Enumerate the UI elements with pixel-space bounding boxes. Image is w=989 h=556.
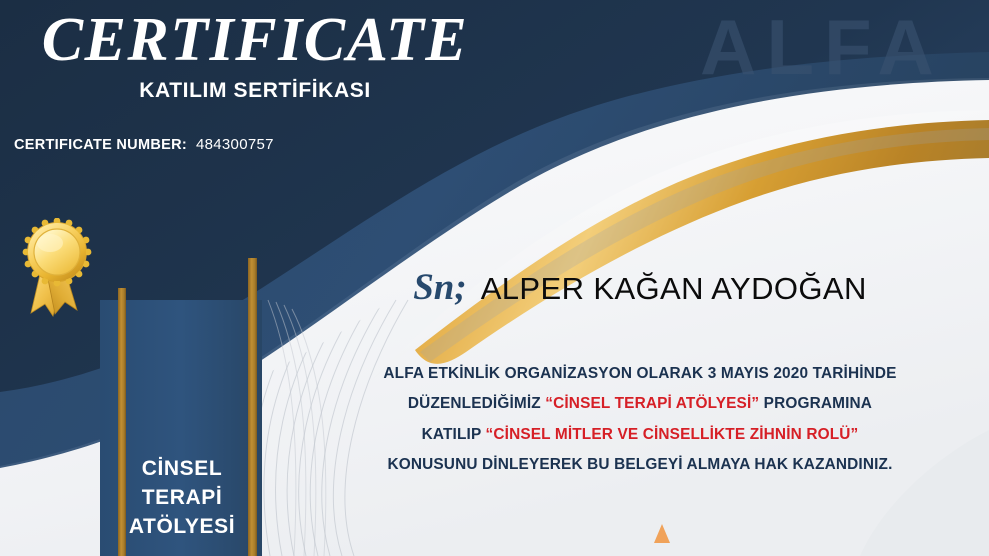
award-ribbon-icon <box>19 218 95 322</box>
body-line-3: KATILIP “CİNSEL MİTLER VE CİNSELLİKTE Zİ… <box>300 427 980 442</box>
body-line-4-text: KONUSUNU DİNLEYEREK BU BELGEYİ ALMAYA HA… <box>387 456 892 473</box>
certificate-number-value: 484300757 <box>196 136 274 153</box>
recipient-row: Sn; ALPER KAĞAN AYDOĞAN <box>300 266 980 309</box>
page-subtitle: KATILIM SERTİFİKASI <box>0 79 510 103</box>
side-banner-text: CİNSEL TERAPİ ATÖLYESİ <box>112 455 252 542</box>
certificate-body: ALFA ETKİNLİK ORGANİZASYON OLARAK 3 MAYI… <box>300 366 980 473</box>
body-line-2-highlight: “CİNSEL TERAPİ ATÖLYESİ” <box>545 395 759 412</box>
page-title: CERTIFICATE <box>0 8 510 73</box>
recipient-salutation: Sn; <box>413 266 466 309</box>
body-line-3-highlight: “CİNSEL MİTLER VE CİNSELLİKTE ZİHNİN ROL… <box>486 426 859 443</box>
side-banner-line-3: ATÖLYESİ <box>112 513 252 542</box>
body-line-4: KONUSUNU DİNLEYEREK BU BELGEYİ ALMAYA HA… <box>300 457 980 472</box>
body-line-3-prefix: KATILIP <box>422 426 486 443</box>
side-banner-line-1: CİNSEL <box>112 455 252 484</box>
body-line-1: ALFA ETKİNLİK ORGANİZASYON OLARAK 3 MAYI… <box>300 366 980 381</box>
body-line-2-prefix: DÜZENLEDİĞİMİZ <box>408 395 545 412</box>
certificate-number-row: CERTIFICATE NUMBER: 484300757 <box>14 136 274 153</box>
body-line-1-text: ALFA ETKİNLİK ORGANİZASYON OLARAK 3 MAYI… <box>383 365 896 382</box>
body-line-2-suffix: PROGRAMINA <box>759 395 872 412</box>
header-title-block: CERTIFICATE KATILIM SERTİFİKASI <box>0 8 510 103</box>
certificate-number-label: CERTIFICATE NUMBER: <box>14 137 187 153</box>
side-banner-line-2: TERAPİ <box>112 484 252 513</box>
recipient-name: ALPER KAĞAN AYDOĞAN <box>481 271 867 307</box>
body-line-2: DÜZENLEDİĞİMİZ “CİNSEL TERAPİ ATÖLYESİ” … <box>300 396 980 411</box>
alfa-watermark-text: ALFA <box>700 3 944 91</box>
certificate-page: ALFA <box>0 0 989 556</box>
